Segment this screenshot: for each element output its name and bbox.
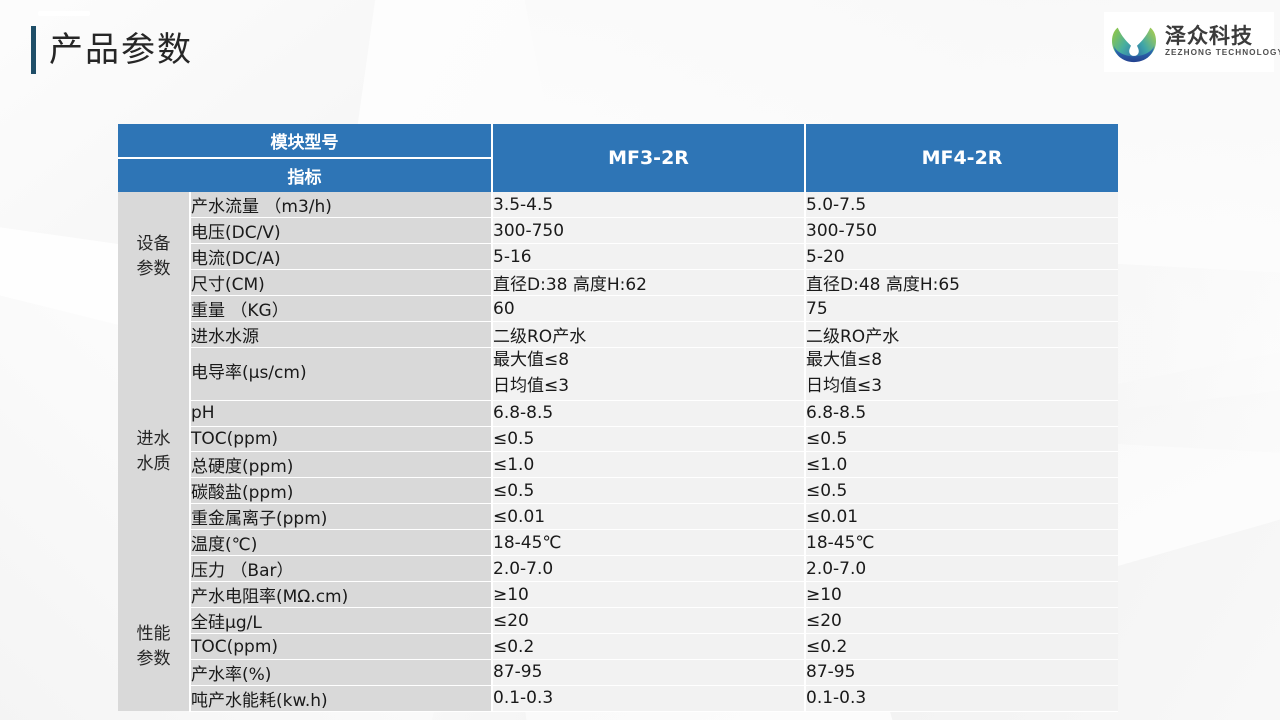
row-value-col2: ≤0.5: [805, 426, 1118, 452]
row-value-col2: 18-45℃: [805, 530, 1118, 556]
row-value-col1: ≥10: [492, 582, 805, 608]
value-line: 直径D:48 高度H:65: [806, 275, 960, 295]
logo-name-cn: 泽众科技: [1165, 25, 1280, 47]
row-value-col2: 二级RO产水: [805, 322, 1118, 348]
value-line: 最大值≤8: [806, 350, 882, 370]
value-line: ≤0.2: [806, 637, 847, 657]
table-row: 电导率(μs/cm)最大值≤8日均值≤3最大值≤8日均值≤3: [118, 348, 1118, 401]
value-line: 二级RO产水: [806, 327, 899, 347]
value-line: ≤20: [806, 611, 842, 631]
value-line: 直径D:38 高度H:62: [493, 275, 647, 295]
row-item-label: 产水率(%): [190, 659, 492, 685]
row-item-label: 吨产水能耗(kw.h): [190, 685, 492, 711]
row-value-col1: 0.1-0.3: [492, 685, 805, 711]
row-value-col1: 60: [492, 296, 805, 322]
value-line: 87-95: [493, 662, 542, 682]
value-line: 18-45℃: [806, 533, 875, 553]
value-line: 2.0-7.0: [493, 559, 553, 579]
row-value-col1: ≤0.5: [492, 426, 805, 452]
row-value-col1: 3.5-4.5: [492, 192, 805, 218]
value-line: 最大值≤8: [493, 350, 569, 370]
value-line: ≤0.5: [806, 481, 847, 501]
row-value-col1: 二级RO产水: [492, 322, 805, 348]
value-line: 75: [806, 299, 828, 319]
value-line: 87-95: [806, 662, 855, 682]
row-item-label: TOC(ppm): [190, 634, 492, 660]
slide-canvas: 产品参数: [0, 0, 1280, 720]
table-row: 电流(DC/A)5-165-20: [118, 244, 1118, 270]
table-row: 碳酸盐(ppm)≤0.5≤0.5: [118, 478, 1118, 504]
row-value-col2: 最大值≤8日均值≤3: [805, 348, 1118, 401]
row-value-col2: 75: [805, 296, 1118, 322]
page-title: 产品参数: [49, 33, 193, 67]
table-row: 产水率(%)87-9587-95: [118, 659, 1118, 685]
row-item-label: 总硬度(ppm): [190, 452, 492, 478]
row-value-col2: ≤1.0: [805, 452, 1118, 478]
table-header: 模块型号 MF3-2R MF4-2R 指标: [118, 124, 1118, 192]
row-value-col2: 87-95: [805, 659, 1118, 685]
value-line: ≤0.2: [493, 637, 534, 657]
value-line: 5-16: [493, 247, 532, 267]
row-value-col1: 5-16: [492, 244, 805, 270]
row-value-col1: 300-750: [492, 218, 805, 244]
row-value-col1: 直径D:38 高度H:62: [492, 270, 805, 296]
header-column-mf3: MF3-2R: [492, 124, 805, 192]
table-body: 设备参数产水流量 （m3/h)3.5-4.55.0-7.5电压(DC/V)300…: [118, 192, 1118, 711]
row-value-col1: 最大值≤8日均值≤3: [492, 348, 805, 401]
table-row: 温度(℃)18-45℃18-45℃: [118, 530, 1118, 556]
row-value-col1: ≤0.01: [492, 504, 805, 530]
company-logo: 泽众科技 ZEZHONG TECHNOLOGY: [1104, 12, 1274, 72]
value-line: 日均值≤3: [493, 374, 804, 400]
group-label-3: 性能参数: [118, 582, 190, 712]
row-item-label: 尺寸(CM): [190, 270, 492, 296]
value-line: ≤1.0: [806, 455, 847, 475]
table-row: 性能参数产水电阻率(MΩ.cm)≥10≥10: [118, 582, 1118, 608]
row-item-label: 全硅μg/L: [190, 608, 492, 634]
group-label-1: 设备参数: [118, 192, 190, 322]
value-line: ≤1.0: [493, 455, 534, 475]
value-line: 5-20: [806, 247, 845, 267]
value-line: 3.5-4.5: [493, 195, 553, 215]
row-value-col2: ≥10: [805, 582, 1118, 608]
row-item-label: 产水流量 （m3/h): [190, 192, 492, 218]
row-item-label: 压力 （Bar）: [190, 556, 492, 582]
value-line: 0.1-0.3: [806, 688, 866, 708]
row-item-label: 电流(DC/A): [190, 244, 492, 270]
value-line: ≤0.5: [493, 429, 534, 449]
value-line: ≥10: [493, 585, 529, 605]
table-row: 重金属离子(ppm)≤0.01≤0.01: [118, 504, 1118, 530]
row-item-label: 产水电阻率(MΩ.cm): [190, 582, 492, 608]
table-row: 吨产水能耗(kw.h)0.1-0.30.1-0.3: [118, 685, 1118, 711]
row-item-label: 重金属离子(ppm): [190, 504, 492, 530]
row-value-col1: ≤0.2: [492, 634, 805, 660]
header-column-mf4: MF4-2R: [805, 124, 1118, 192]
table-row: 进水水质进水水源二级RO产水二级RO产水: [118, 322, 1118, 348]
group-label-line: 水质: [118, 452, 189, 477]
group-label-line: 进水: [118, 427, 189, 452]
row-value-col2: ≤0.5: [805, 478, 1118, 504]
row-item-label: 碳酸盐(ppm): [190, 478, 492, 504]
row-value-col2: 300-750: [805, 218, 1118, 244]
row-value-col1: 6.8-8.5: [492, 400, 805, 426]
table-row: 电压(DC/V)300-750300-750: [118, 218, 1118, 244]
page-title-area: 产品参数: [31, 18, 193, 82]
row-item-label: 重量 （KG）: [190, 296, 492, 322]
value-line: ≥10: [806, 585, 842, 605]
value-line: ≤0.01: [493, 507, 545, 527]
row-item-label: 电压(DC/V): [190, 218, 492, 244]
row-value-col1: 18-45℃: [492, 530, 805, 556]
value-line: 300-750: [493, 221, 564, 241]
title-hairline-decoration: [38, 11, 90, 16]
value-line: 5.0-7.5: [806, 195, 866, 215]
row-value-col1: ≤1.0: [492, 452, 805, 478]
row-value-col1: 87-95: [492, 659, 805, 685]
value-line: ≤0.5: [493, 481, 534, 501]
row-value-col2: 6.8-8.5: [805, 400, 1118, 426]
group-label-line: 性能: [118, 622, 189, 647]
value-line: 6.8-8.5: [806, 403, 866, 423]
value-line: 0.1-0.3: [493, 688, 553, 708]
value-line: ≤20: [493, 611, 529, 631]
table-header-row-top: 模块型号 MF3-2R MF4-2R: [118, 124, 1118, 158]
title-accent-bar: [31, 26, 36, 74]
table-row: 重量 （KG）6075: [118, 296, 1118, 322]
value-line: 6.8-8.5: [493, 403, 553, 423]
row-value-col2: 2.0-7.0: [805, 556, 1118, 582]
product-spec-table: 模块型号 MF3-2R MF4-2R 指标 设备参数产水流量 （m3/h)3.5…: [118, 124, 1118, 712]
row-item-label: TOC(ppm): [190, 426, 492, 452]
row-item-label: 温度(℃): [190, 530, 492, 556]
value-line: 2.0-7.0: [806, 559, 866, 579]
row-value-col2: 5-20: [805, 244, 1118, 270]
header-module-type: 模块型号: [118, 124, 492, 158]
group-label-2: 进水水质: [118, 322, 190, 582]
logo-wordmark: 泽众科技 ZEZHONG TECHNOLOGY: [1165, 25, 1280, 59]
table-row: 全硅μg/L≤20≤20: [118, 608, 1118, 634]
value-line: 300-750: [806, 221, 877, 241]
value-line: ≤0.5: [806, 429, 847, 449]
row-value-col1: ≤0.5: [492, 478, 805, 504]
table-row: 压力 （Bar）2.0-7.02.0-7.0: [118, 556, 1118, 582]
row-value-col1: 2.0-7.0: [492, 556, 805, 582]
row-value-col2: 直径D:48 高度H:65: [805, 270, 1118, 296]
row-item-label: 进水水源: [190, 322, 492, 348]
logo-name-en: ZEZHONG TECHNOLOGY: [1165, 47, 1280, 58]
value-line: 60: [493, 299, 515, 319]
group-label-line: 参数: [118, 257, 189, 282]
row-item-label: pH: [190, 400, 492, 426]
value-line: ≤0.01: [806, 507, 858, 527]
value-line: 二级RO产水: [493, 327, 586, 347]
row-value-col2: ≤0.01: [805, 504, 1118, 530]
value-line: 日均值≤3: [806, 374, 1118, 400]
row-value-col2: 0.1-0.3: [805, 685, 1118, 711]
group-label-line: 参数: [118, 647, 189, 672]
row-item-label: 电导率(μs/cm): [190, 348, 492, 401]
leaf-waterdrop-icon: [1110, 20, 1158, 64]
group-label-line: 设备: [118, 232, 189, 257]
value-line: 18-45℃: [493, 533, 562, 553]
row-value-col2: ≤20: [805, 608, 1118, 634]
row-value-col1: ≤20: [492, 608, 805, 634]
table-row: 设备参数产水流量 （m3/h)3.5-4.55.0-7.5: [118, 192, 1118, 218]
row-value-col2: ≤0.2: [805, 634, 1118, 660]
table-row: pH6.8-8.56.8-8.5: [118, 400, 1118, 426]
row-value-col2: 5.0-7.5: [805, 192, 1118, 218]
table-row: TOC(ppm)≤0.5≤0.5: [118, 426, 1118, 452]
table-row: TOC(ppm)≤0.2≤0.2: [118, 634, 1118, 660]
table-row: 尺寸(CM)直径D:38 高度H:62直径D:48 高度H:65: [118, 270, 1118, 296]
table-row: 总硬度(ppm)≤1.0≤1.0: [118, 452, 1118, 478]
header-indicator: 指标: [118, 158, 492, 192]
